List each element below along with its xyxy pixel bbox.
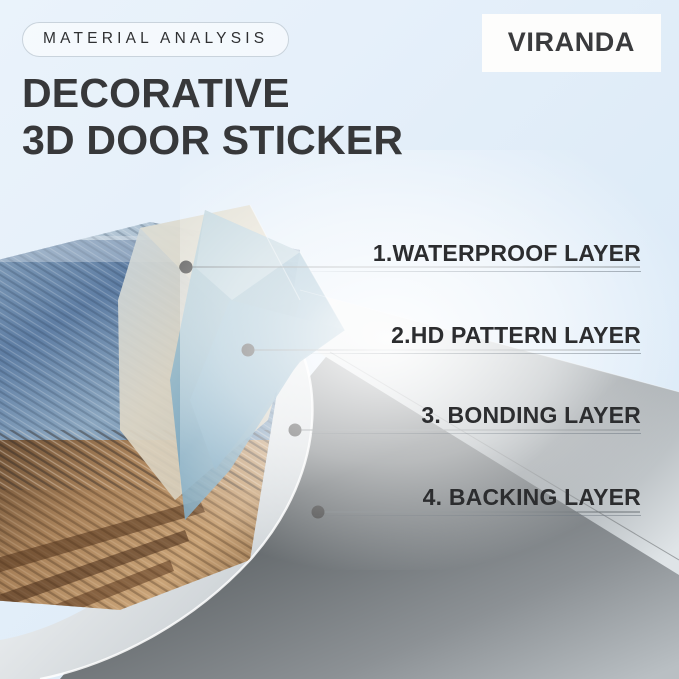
callout-label-3: 3. BONDING LAYER [311,402,641,429]
callout-rule-2 [311,353,641,354]
title-line-2: 3D DOOR STICKER [22,117,403,164]
callout-label-4: 4. BACKING LAYER [311,484,641,511]
callout-label-2: 2.HD PATTERN LAYER [311,322,641,349]
eyebrow-label: MATERIAL ANALYSIS [43,30,268,47]
infographic-canvas: MATERIAL ANALYSIS DECORATIVE 3D DOOR STI… [0,0,679,679]
callout-1: 1.WATERPROOF LAYER [311,240,641,272]
callout-rule-4 [311,515,641,516]
callout-2: 2.HD PATTERN LAYER [311,322,641,354]
callout-rule-3 [311,433,641,434]
callout-label-1: 1.WATERPROOF LAYER [311,240,641,267]
title-line-1: DECORATIVE [22,70,290,116]
callout-4: 4. BACKING LAYER [311,484,641,516]
callout-dot-3 [289,424,302,437]
callout-3: 3. BONDING LAYER [311,402,641,434]
callout-rule-1 [311,271,641,272]
page-title: DECORATIVE 3D DOOR STICKER [22,70,403,164]
callout-dot-2 [242,344,255,357]
callout-dot-1 [180,261,193,274]
brand-logo: VIRANDA [482,14,661,72]
brand-name: VIRANDA [508,27,635,57]
eyebrow-badge: MATERIAL ANALYSIS [22,22,289,57]
